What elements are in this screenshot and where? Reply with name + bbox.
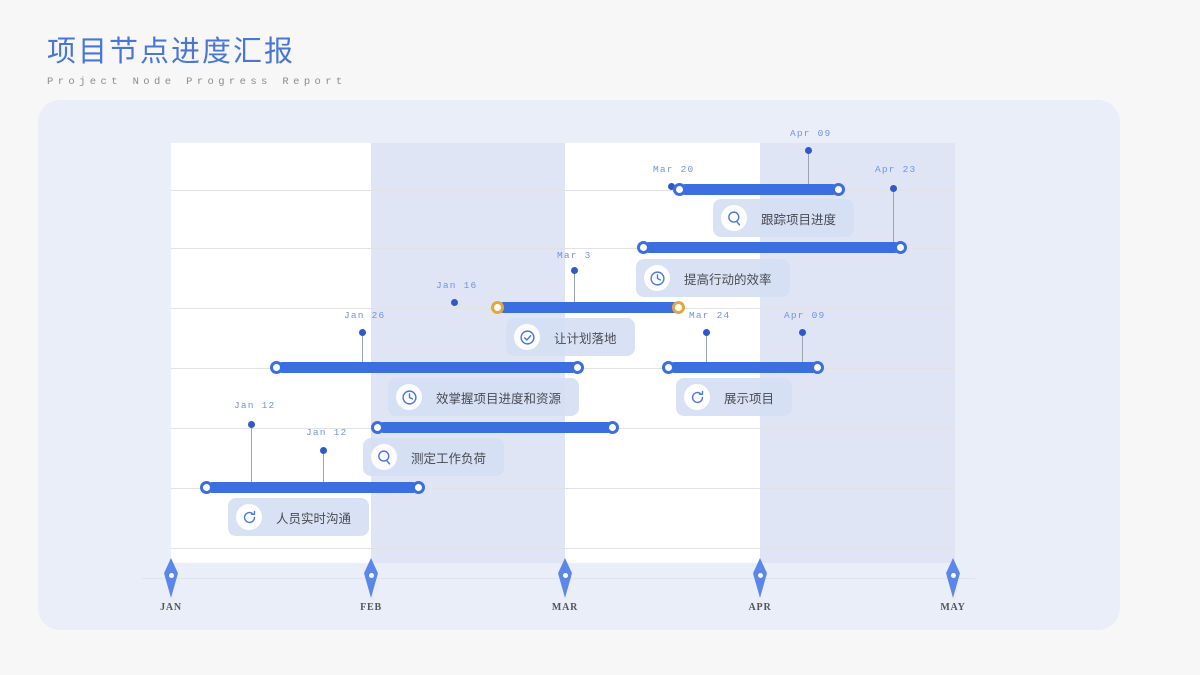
bar-start-cap[interactable] — [270, 361, 283, 374]
task-chip[interactable]: 效掌握项目进度和资源 — [388, 378, 579, 416]
month-label: MAR — [552, 602, 578, 613]
pin-icon — [946, 558, 960, 598]
search-icon — [721, 205, 747, 231]
pin-icon — [364, 558, 378, 598]
gantt-bar[interactable] — [378, 422, 613, 433]
milestone-label: Apr 09 — [790, 128, 831, 139]
milestone-label: Jan 16 — [436, 280, 477, 291]
milestone-dot — [805, 147, 812, 154]
bar-start-cap[interactable] — [673, 183, 686, 196]
task-label: 让计划落地 — [554, 328, 617, 347]
gantt-bar[interactable] — [207, 482, 418, 493]
month-label: JAN — [160, 602, 182, 613]
bar-end-cap[interactable] — [412, 481, 425, 494]
task-label: 提高行动的效率 — [684, 269, 772, 288]
bar-end-cap[interactable] — [571, 361, 584, 374]
milestone-stem — [893, 188, 894, 246]
bar-end-cap[interactable] — [672, 301, 685, 314]
bar-end-cap[interactable] — [832, 183, 845, 196]
task-label: 跟踪项目进度 — [761, 209, 836, 228]
pin-icon — [558, 558, 572, 598]
bar-start-cap[interactable] — [371, 421, 384, 434]
task-chip[interactable]: 让计划落地 — [506, 318, 635, 356]
task-chip[interactable]: 跟踪项目进度 — [713, 199, 854, 237]
search-icon — [371, 444, 397, 470]
milestone-label: Jan 12 — [234, 400, 275, 411]
month-marker-jan[interactable]: JAN — [164, 558, 178, 598]
milestone-stem — [362, 332, 363, 366]
month-marker-may[interactable]: MAY — [946, 558, 960, 598]
bar-start-cap[interactable] — [491, 301, 504, 314]
milestone-dot — [799, 329, 806, 336]
gantt-bar[interactable] — [669, 362, 818, 373]
refresh-icon — [236, 504, 262, 530]
grid-row-line — [171, 548, 955, 549]
task-label: 展示项目 — [724, 388, 774, 407]
milestone-stem — [574, 270, 575, 306]
milestone-stem — [706, 332, 707, 366]
pin-icon — [753, 558, 767, 598]
page-subtitle: Project Node Progress Report — [47, 76, 347, 88]
bar-start-cap[interactable] — [200, 481, 213, 494]
task-chip[interactable]: 提高行动的效率 — [636, 259, 790, 297]
milestone-dot — [320, 447, 327, 454]
gantt-bar[interactable] — [277, 362, 578, 373]
milestone-label: Mar 3 — [557, 250, 592, 261]
month-label: APR — [749, 602, 772, 613]
task-chip[interactable]: 测定工作负荷 — [363, 438, 504, 476]
page-header: 项目节点进度汇报 Project Node Progress Report — [47, 34, 347, 88]
pin-icon — [164, 558, 178, 598]
milestone-label: Mar 20 — [653, 164, 694, 175]
month-label: MAY — [940, 602, 965, 613]
month-label: FEB — [360, 602, 382, 613]
milestone-dot — [248, 421, 255, 428]
bar-start-cap[interactable] — [637, 241, 650, 254]
task-label: 测定工作负荷 — [411, 448, 486, 467]
month-marker-apr[interactable]: APR — [753, 558, 767, 598]
milestone-dot — [451, 299, 458, 306]
milestone-label: Apr 23 — [875, 164, 916, 175]
clock-icon — [396, 384, 422, 410]
refresh-icon — [684, 384, 710, 410]
milestone-stem — [323, 450, 324, 486]
gantt-bar[interactable] — [644, 242, 900, 253]
bar-end-cap[interactable] — [894, 241, 907, 254]
task-chip[interactable]: 人员实时沟通 — [228, 498, 369, 536]
gantt-panel: Apr 09 Mar 20 跟踪项目进度 Apr 23 — [38, 100, 1120, 630]
milestone-label: Jan 12 — [306, 427, 347, 438]
milestone-label: Jan 26 — [344, 310, 385, 321]
page-title: 项目节点进度汇报 — [47, 34, 347, 70]
check-circle-icon — [514, 324, 540, 350]
gantt-bar[interactable] — [680, 184, 838, 195]
milestone-stem — [802, 332, 803, 366]
milestone-label: Mar 24 — [689, 310, 730, 321]
bar-start-cap[interactable] — [662, 361, 675, 374]
gantt-chart: Apr 09 Mar 20 跟踪项目进度 Apr 23 — [38, 100, 1120, 630]
bar-end-cap[interactable] — [606, 421, 619, 434]
clock-icon — [644, 265, 670, 291]
task-chip[interactable]: 展示项目 — [676, 378, 792, 416]
bar-end-cap[interactable] — [811, 361, 824, 374]
milestone-dot — [571, 267, 578, 274]
month-marker-mar[interactable]: MAR — [558, 558, 572, 598]
milestone-label: Apr 09 — [784, 310, 825, 321]
task-label: 人员实时沟通 — [276, 508, 351, 527]
milestone-dot — [359, 329, 366, 336]
milestone-stem — [251, 424, 252, 486]
task-label: 效掌握项目进度和资源 — [436, 388, 561, 407]
milestone-dot — [703, 329, 710, 336]
month-marker-feb[interactable]: FEB — [364, 558, 378, 598]
gantt-bar[interactable] — [498, 302, 680, 313]
milestone-dot — [890, 185, 897, 192]
